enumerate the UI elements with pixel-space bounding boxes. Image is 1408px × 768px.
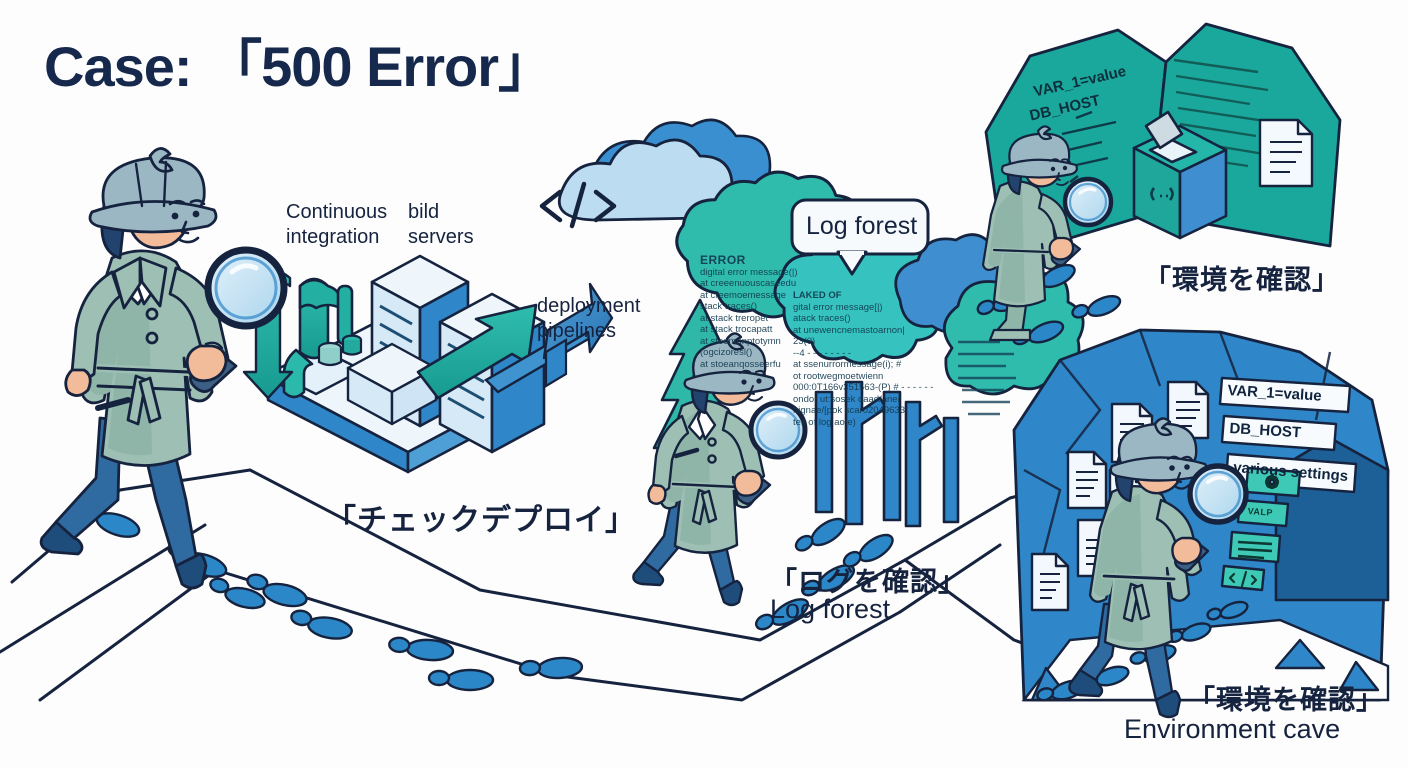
canopy-right-line: at ssenurrormessage(i); # xyxy=(793,359,943,371)
canopy-right-line: 000:0T166v351563-(P) # - - - - - - xyxy=(793,382,943,394)
caption-check-env-cave: 「環境を確認」 xyxy=(1188,678,1384,717)
label-continuous-integration: Continuous integration xyxy=(286,200,387,250)
canopy-right-line: tes of log aote) xyxy=(793,417,943,429)
caption-environment-cave-en: Environment cave xyxy=(1124,714,1340,745)
illustration-layer xyxy=(0,0,1408,768)
canopy-right-line: ot rootwegmoetwienn xyxy=(793,371,943,383)
canopy-right-log: LAKED OF gital error message[|) atack tr… xyxy=(793,290,943,428)
label-build-servers: bild servers xyxy=(408,200,474,250)
log-forest-bubble-text: Log forest xyxy=(806,212,917,241)
canopy-left-line: at creeenuouscaseedu xyxy=(700,278,840,290)
detective-main xyxy=(41,148,284,588)
canopy-right-line: at unewencnemastoarnon| xyxy=(793,325,943,337)
canopy-right-line: atack traces() xyxy=(793,313,943,325)
canopy-left-line: digital error message(|) xyxy=(700,267,840,279)
document-icon xyxy=(1260,120,1312,186)
page-title: Case: 「500 Error」 xyxy=(44,22,553,103)
label-deployment-pipelines: deployment pipelines xyxy=(537,294,640,344)
valp-badge-text: VALP xyxy=(1247,506,1273,518)
canopy-right-line: ondor ut:sosek daad/aner xyxy=(793,394,943,406)
canopy-right-line: --4 - - - - - - - - xyxy=(793,348,943,360)
infographic-canvas: Case: 「500 Error」 Continuous integration… xyxy=(0,0,1408,768)
caption-log-forest-en: Log forest xyxy=(770,594,890,625)
canopy-right-line: hignae/[pok scar02049633 xyxy=(793,405,943,417)
caption-check-deploy: 「チェックデプロイ」 xyxy=(326,495,636,539)
canopy-right-line: 23(0) xyxy=(793,336,943,348)
caption-check-env-top: 「環境を確認」 xyxy=(1144,258,1340,297)
canopy-right-line: gital error message[|) xyxy=(793,302,943,314)
